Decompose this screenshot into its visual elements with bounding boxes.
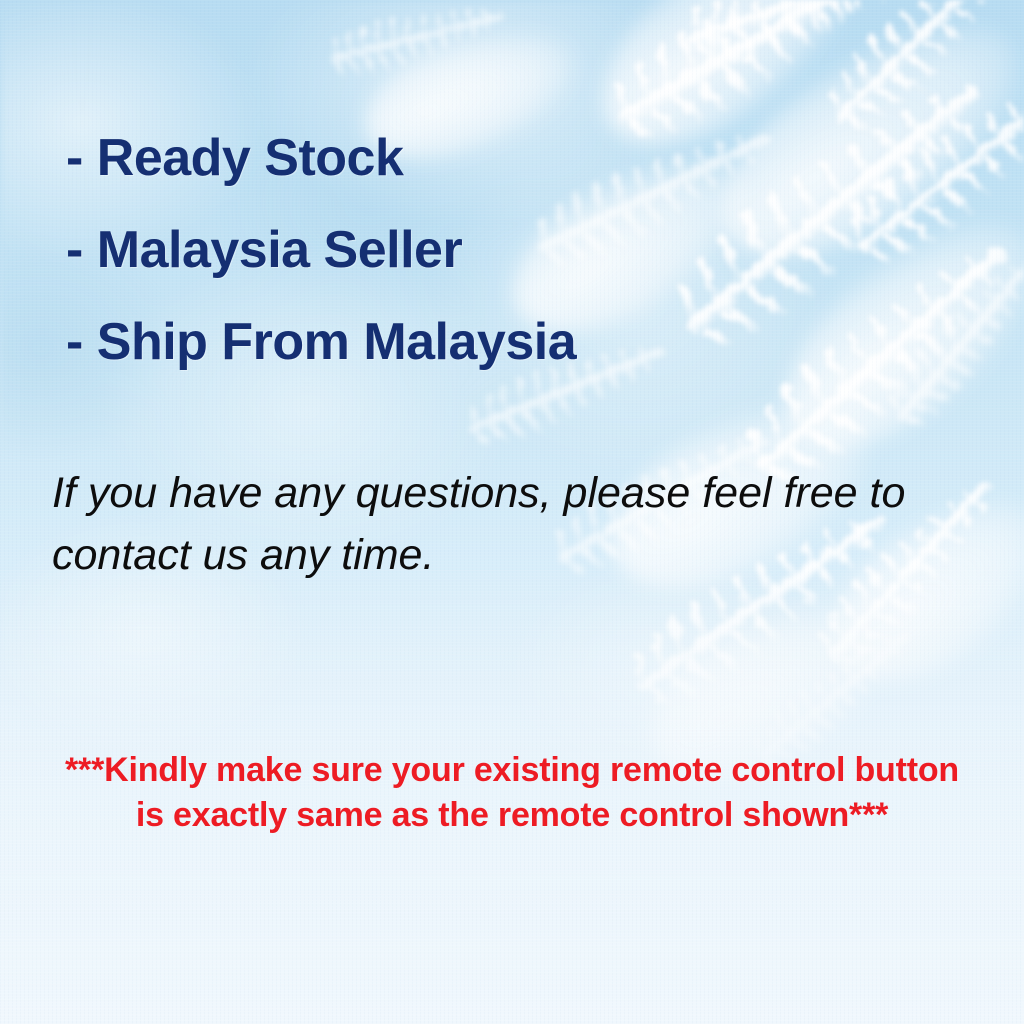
contact-paragraph: If you have any questions, please feel f… xyxy=(52,462,982,586)
selling-points-list: - Ready Stock - Malaysia Seller - Ship F… xyxy=(66,112,576,388)
selling-point-ship-from-malaysia: - Ship From Malaysia xyxy=(66,296,576,388)
compatibility-notice-line-1: ***Kindly make sure your existing remote… xyxy=(0,748,1024,793)
selling-point-ready-stock: - Ready Stock xyxy=(66,112,576,204)
seller-info-banner: - Ready Stock - Malaysia Seller - Ship F… xyxy=(0,0,1024,1024)
contact-paragraph-line-2: contact us any time. xyxy=(52,524,982,586)
banner-content: - Ready Stock - Malaysia Seller - Ship F… xyxy=(0,0,1024,1024)
contact-paragraph-line-1: If you have any questions, please feel f… xyxy=(52,462,982,524)
compatibility-notice: ***Kindly make sure your existing remote… xyxy=(0,748,1024,838)
compatibility-notice-line-2: is exactly same as the remote control sh… xyxy=(0,793,1024,838)
selling-point-malaysia-seller: - Malaysia Seller xyxy=(66,204,576,296)
